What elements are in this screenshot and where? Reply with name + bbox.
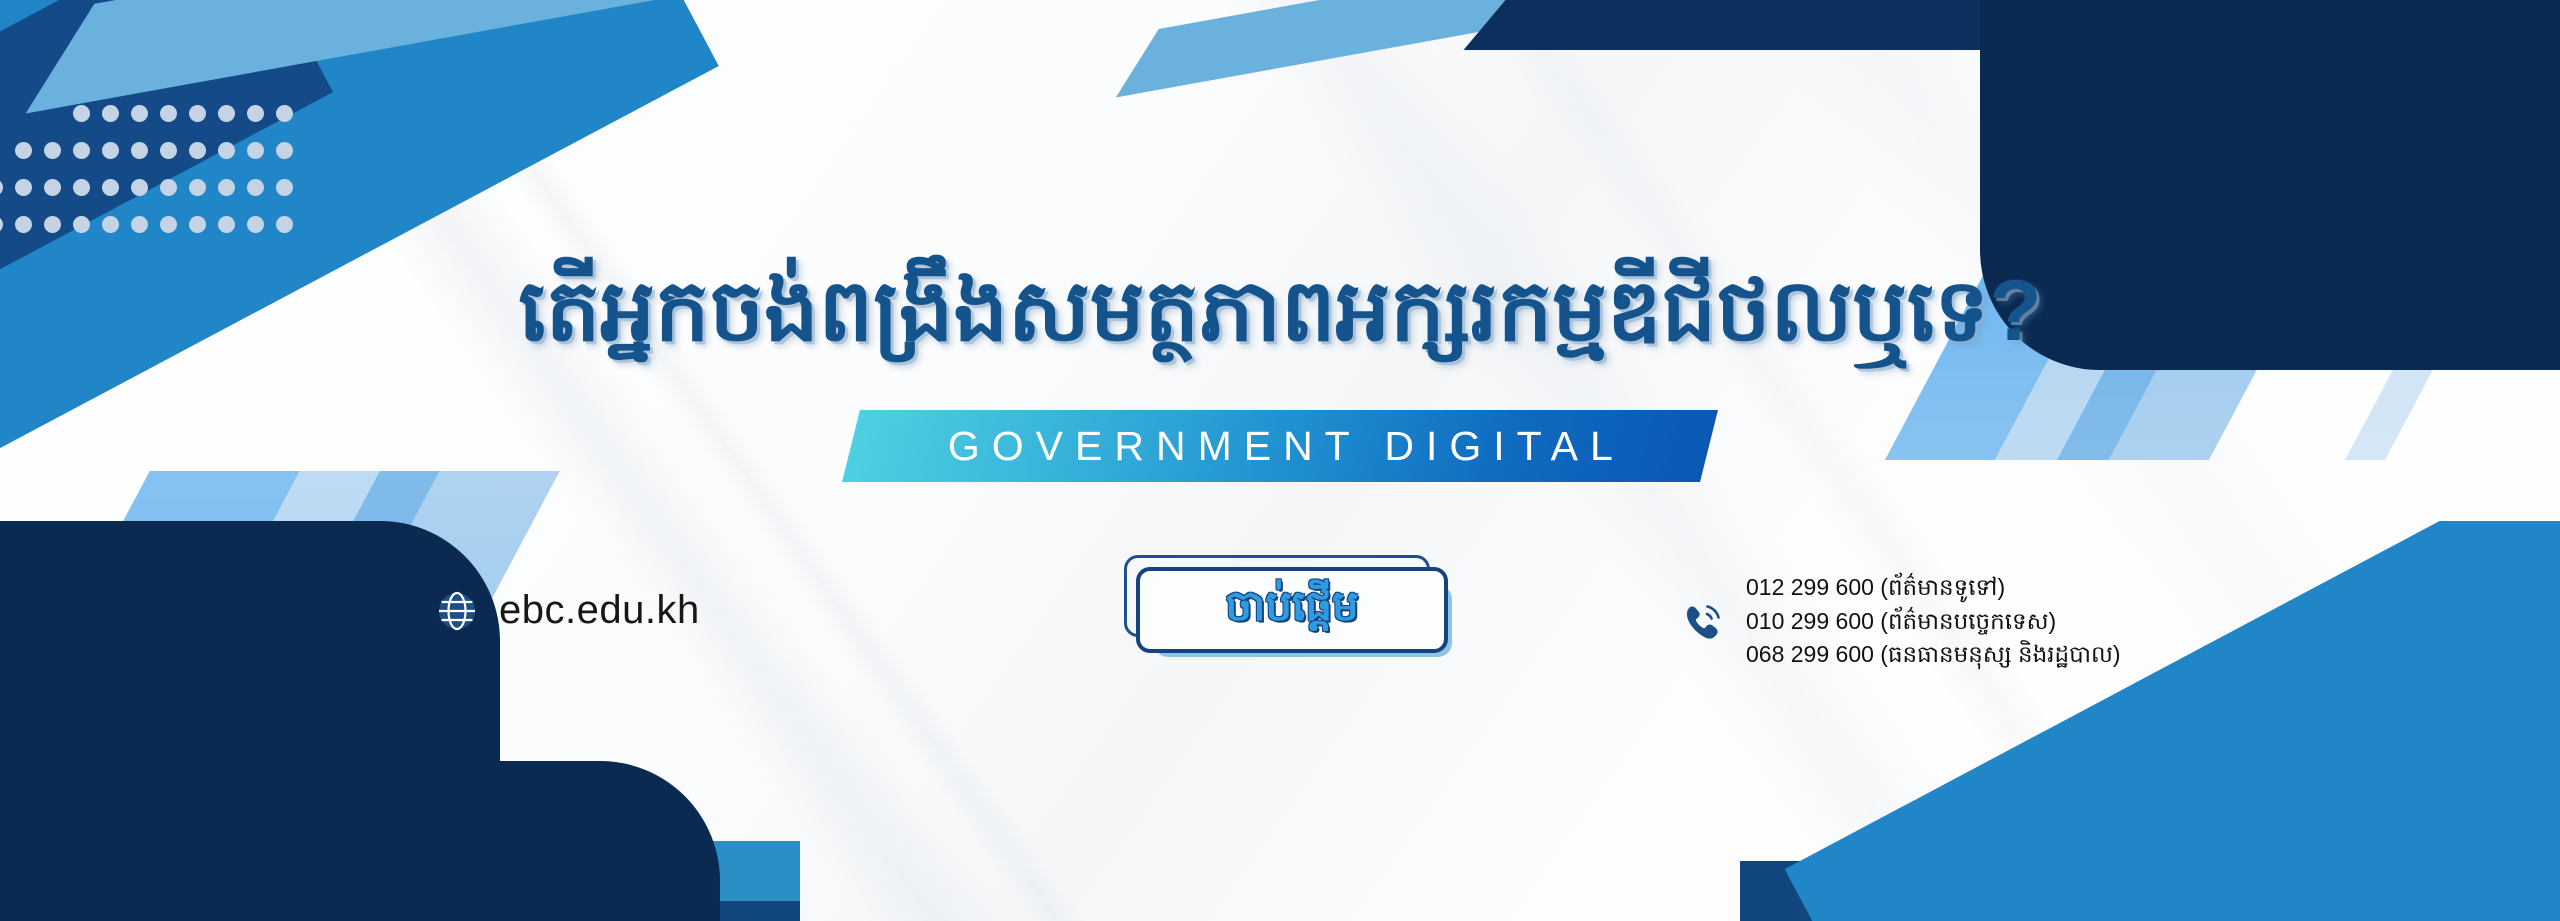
promo-banner: តើអ្នកចង់ពង្រឹងសមត្ថភាពអក្សរកម្មឌីជីថលឬទ… bbox=[0, 0, 2560, 921]
globe-icon bbox=[437, 591, 477, 631]
website-info[interactable]: ebc.edu.kh bbox=[437, 588, 700, 633]
website-url[interactable]: ebc.edu.kh bbox=[499, 588, 700, 633]
contact-info: 012 299 600 (ព័ត៌មានទូទៅ) 010 299 600 (ព… bbox=[1680, 572, 2121, 671]
cta-face[interactable]: ចាប់ផ្ដើម bbox=[1136, 567, 1448, 653]
phone-line: 068 299 600 (ធនធានមនុស្ស និងរដ្ឋបាល) bbox=[1746, 639, 2121, 671]
subtitle-ribbon: GOVERNMENT DIGITAL bbox=[842, 410, 1718, 482]
phone-line: 012 299 600 (ព័ត៌មានទូទៅ) bbox=[1746, 572, 2121, 604]
subtitle-ribbon-label: GOVERNMENT DIGITAL bbox=[936, 423, 1625, 470]
banner-content: តើអ្នកចង់ពង្រឹងសមត្ថភាពអក្សរកម្មឌីជីថលឬទ… bbox=[0, 0, 2560, 921]
cta-button[interactable]: ចាប់ផ្ដើម bbox=[1136, 567, 1446, 649]
headline: តើអ្នកចង់ពង្រឹងសមត្ថភាពអក្សរកម្មឌីជីថលឬទ… bbox=[0, 268, 2560, 354]
cta-label: ចាប់ផ្ដើម bbox=[1225, 579, 1358, 641]
phone-line: 010 299 600 (ព័ត៌មានបច្ចេកទេស) bbox=[1746, 606, 2121, 638]
phone-number-list: 012 299 600 (ព័ត៌មានទូទៅ) 010 299 600 (ព… bbox=[1746, 572, 2121, 671]
phone-ringing-icon bbox=[1680, 599, 1726, 645]
